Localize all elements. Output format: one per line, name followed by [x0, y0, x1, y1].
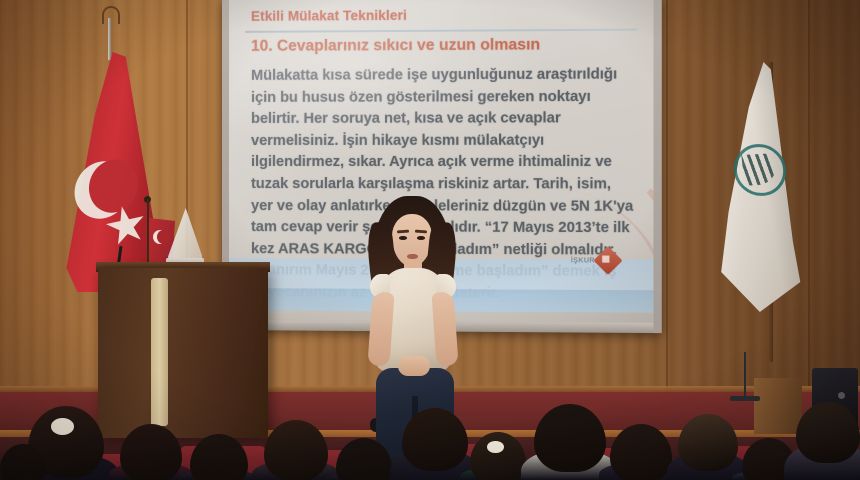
slide-title: Etkili Mülakat Teknikleri — [251, 8, 407, 24]
slide-logo: İŞKUR — [571, 247, 635, 274]
slide-logo-mark-icon — [594, 246, 623, 275]
hair-clip-icon — [51, 418, 74, 435]
audience-member-head — [610, 424, 672, 480]
audience-member-head — [264, 420, 328, 480]
audience-member-head — [796, 402, 860, 463]
audience — [0, 350, 860, 480]
desk-flag-crescent-icon — [153, 230, 167, 244]
flag-hook-icon — [102, 6, 120, 24]
presenter-eye-left — [399, 236, 407, 240]
presenter-mouth — [407, 254, 418, 259]
desk-flag-pole — [147, 199, 149, 265]
audience-member-head — [470, 432, 526, 480]
flag-pole — [108, 18, 111, 60]
hair-clip-icon — [487, 441, 504, 453]
slide-heading: 10. Cevaplarınız sıkıcı ve uzun olmasın — [251, 36, 540, 56]
slide-logo-label: İŞKUR — [571, 257, 595, 264]
presenter-eye-right — [417, 236, 425, 240]
audience-member-head — [402, 408, 468, 471]
audience-member-head — [678, 414, 738, 471]
conference-photo-scene: Etkili Mülakat Teknikleri 10. Cevapların… — [0, 0, 860, 480]
audience-member-head — [120, 424, 182, 480]
slide-title-rule — [245, 29, 637, 33]
audience-member-head — [190, 434, 248, 480]
audience-member-head — [336, 438, 392, 480]
university-flag-shading — [712, 62, 804, 312]
audience-member-head — [534, 404, 606, 472]
university-flag — [712, 62, 812, 362]
